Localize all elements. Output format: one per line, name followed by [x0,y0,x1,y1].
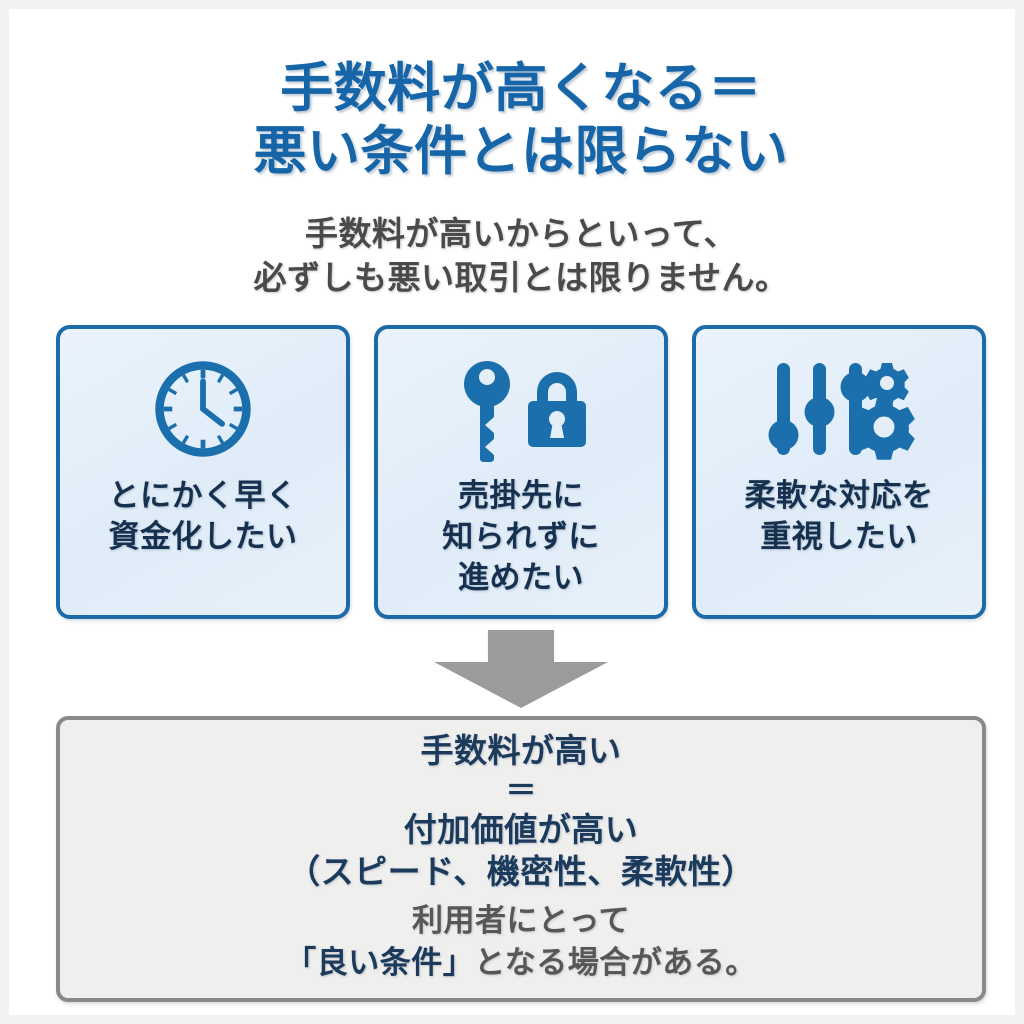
reason-card-speed: とにかく早く 資金化したい [56,325,350,619]
conclusion-line-3: （スピード、機密性、柔軟性） [287,851,755,894]
conclusion-line-1: 手数料が高い [421,730,622,773]
conclusion-line-4: 利用者にとって [412,900,630,942]
clock-icon [150,351,256,467]
conclusion-highlight: 「良い条件」 [285,945,474,980]
card1-line-2: 資金化したい [109,516,298,557]
card2-line-2: 知られずに [442,516,600,557]
conclusion-panel: 手数料が高い ＝ 付加価値が高い （スピード、機密性、柔軟性） 利用者にとって … [56,716,986,1002]
reason-card-speed-label: とにかく早く 資金化したい [109,475,298,557]
arrow-down-icon [434,630,608,708]
key-lock-icon [451,351,591,467]
card2-line-1: 売掛先に [442,475,600,516]
conclusion-line-5: 「良い条件」となる場合がある。 [285,942,757,984]
page-subtitle: 手数料が高いからといって、 必ずしも悪い取引とは限りません。 [9,212,1024,299]
reason-card-confidentiality: 売掛先に 知られずに 進めたい [374,325,668,619]
flow-arrow-container [9,630,1024,708]
card1-line-1: とにかく早く [109,475,298,516]
sliders-gears-icon [763,351,915,467]
infographic-canvas: 手数料が高くなる＝ 悪い条件とは限らない 手数料が高いからといって、 必ずしも悪… [0,0,1024,1024]
conclusion-line-2: 付加価値が高い [404,809,639,852]
reason-card-confidentiality-label: 売掛先に 知られずに 進めたい [442,475,600,599]
reason-card-flexibility: 柔軟な対応を 重視したい [692,325,986,619]
card3-line-1: 柔軟な対応を [745,475,934,516]
title-line-2: 悪い条件とは限らない [9,120,1024,183]
page-title: 手数料が高くなる＝ 悪い条件とは限らない [9,57,1024,183]
reason-card-flexibility-label: 柔軟な対応を 重視したい [745,475,934,557]
conclusion-line-5-rest: となる場合がある。 [474,945,757,980]
conclusion-equals: ＝ [506,773,537,809]
reason-cards-row: とにかく早く 資金化したい [56,325,986,619]
subtitle-line-2: 必ずしも悪い取引とは限りません。 [9,256,1024,300]
title-line-1: 手数料が高くなる＝ [9,57,1024,120]
card3-line-2: 重視したい [745,516,934,557]
subtitle-line-1: 手数料が高いからといって、 [9,212,1024,256]
card2-line-3: 進めたい [442,557,600,598]
